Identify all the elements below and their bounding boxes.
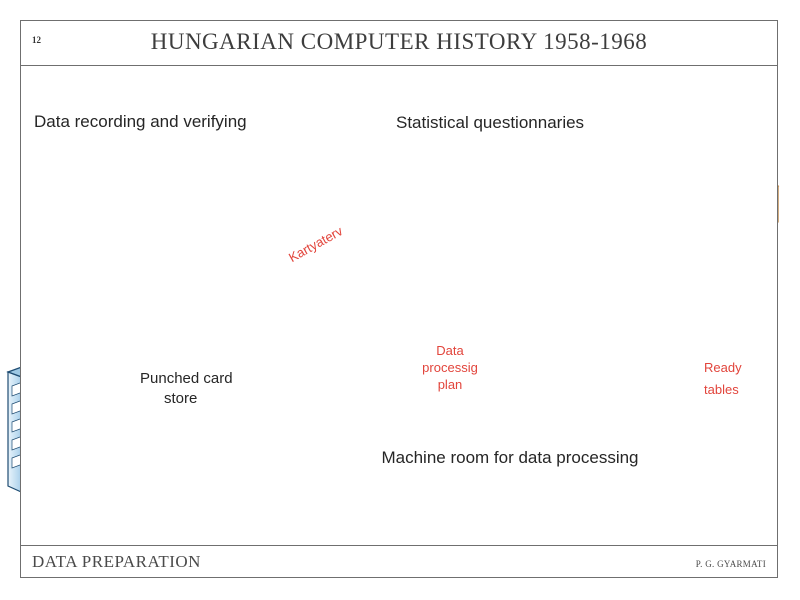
- label-statistical-questionnaries: Statistical questionnaries: [396, 113, 584, 133]
- slide-canvas: 12 HUNGARIAN COMPUTER HISTORY 1958-1968 …: [0, 0, 800, 600]
- label-punched-card-store-line1: Punched card: [140, 370, 233, 387]
- label-ready-tables-line1: Ready: [704, 360, 764, 375]
- label-data-plan-line3: plan: [420, 377, 480, 392]
- label-data-plan-line1: Data: [420, 343, 480, 358]
- footer-author: P. G. GYARMATI: [696, 559, 766, 569]
- slide-frame: [20, 20, 778, 578]
- footer-bar: DATA PREPARATION P. G. GYARMATI: [20, 545, 778, 578]
- label-machine-room: Machine room for data processing: [260, 448, 760, 468]
- label-data-recording: Data recording and verifying: [34, 112, 247, 132]
- label-punched-card-store-line2: store: [164, 390, 197, 407]
- label-ready-tables-line2: tables: [704, 382, 764, 397]
- title-bar: 12 HUNGARIAN COMPUTER HISTORY 1958-1968: [20, 20, 778, 66]
- footer-section-label: DATA PREPARATION: [32, 552, 201, 572]
- label-data-plan-line2: processig: [420, 360, 480, 375]
- page-title: HUNGARIAN COMPUTER HISTORY 1958-1968: [20, 29, 778, 55]
